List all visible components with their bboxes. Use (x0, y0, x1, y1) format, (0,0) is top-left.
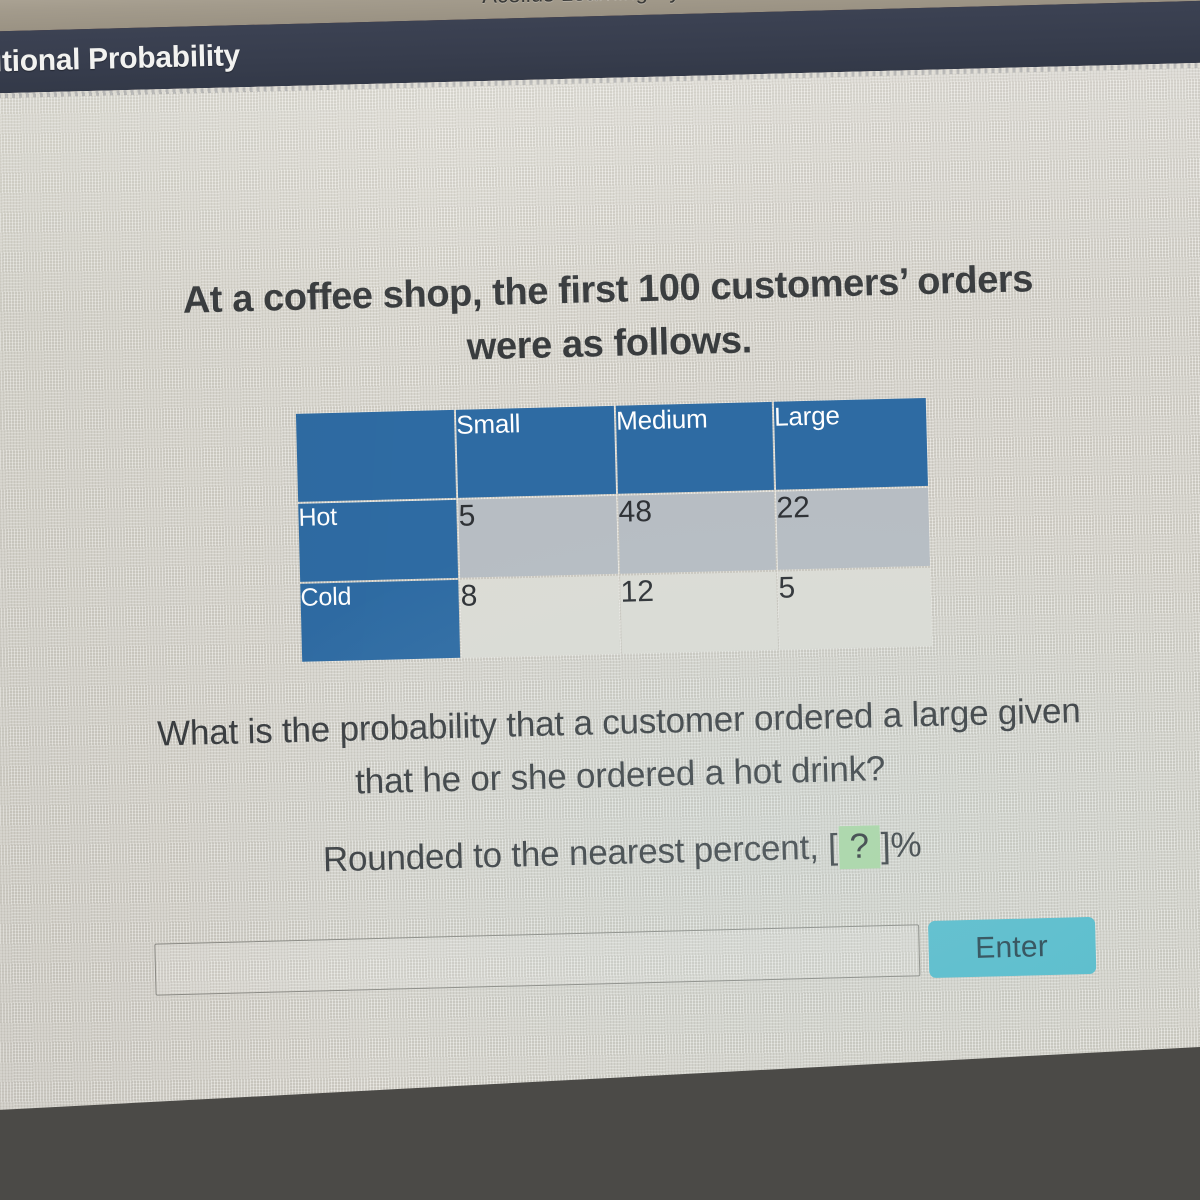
answer-input[interactable] (154, 924, 920, 995)
question-content: At a coffee shop, the first 100 customer… (3, 63, 1200, 1001)
screen-surface: Acellus Learning System ditional Probabi… (0, 0, 1200, 1186)
table-header-large: Large (774, 398, 928, 490)
table-cell-hot-medium: 48 (618, 492, 776, 574)
table-header-small: Small (456, 406, 616, 498)
two-way-table-wrapper: Small Medium Large Hot 5 48 22 (11, 389, 1200, 671)
two-way-frequency-table: Small Medium Large Hot 5 48 22 (294, 396, 934, 664)
table-cell-cold-medium: 12 (620, 572, 778, 654)
table-corner-cell (296, 410, 456, 502)
rounding-instruction-text: Rounded to the nearest percent, (322, 828, 819, 880)
percent-sign: % (890, 825, 922, 865)
table-cell-hot-small: 5 (458, 496, 618, 578)
answer-blank-open-bracket: [ (828, 828, 839, 867)
window-title: Acellus Learning System (482, 0, 729, 9)
table-cell-cold-small: 8 (460, 576, 620, 658)
rounding-instruction: Rounded to the nearest percent, [?]% (22, 817, 1200, 890)
table-row: Cold 8 12 5 (300, 568, 932, 662)
answer-row: Enter (24, 914, 1200, 1001)
table-row: Hot 5 48 22 (298, 488, 930, 582)
table-row-label-cold: Cold (300, 580, 460, 662)
lesson-title: ditional Probability (0, 39, 240, 80)
table-header-medium: Medium (616, 402, 774, 494)
photographed-screen: Acellus Learning System ditional Probabi… (0, 0, 1200, 1200)
table-cell-hot-large: 22 (776, 488, 930, 570)
question-stem: At a coffee shop, the first 100 customer… (7, 249, 1200, 387)
answer-blank-placeholder: ? (838, 826, 880, 870)
table-header-row: Small Medium Large (296, 398, 928, 502)
table-row-label-hot: Hot (298, 500, 458, 582)
enter-button[interactable]: Enter (927, 917, 1095, 978)
table-cell-cold-large: 5 (778, 568, 932, 650)
question-prompt: What is the probability that a customer … (18, 681, 1200, 818)
lesson-page: At a coffee shop, the first 100 customer… (0, 62, 1200, 1154)
